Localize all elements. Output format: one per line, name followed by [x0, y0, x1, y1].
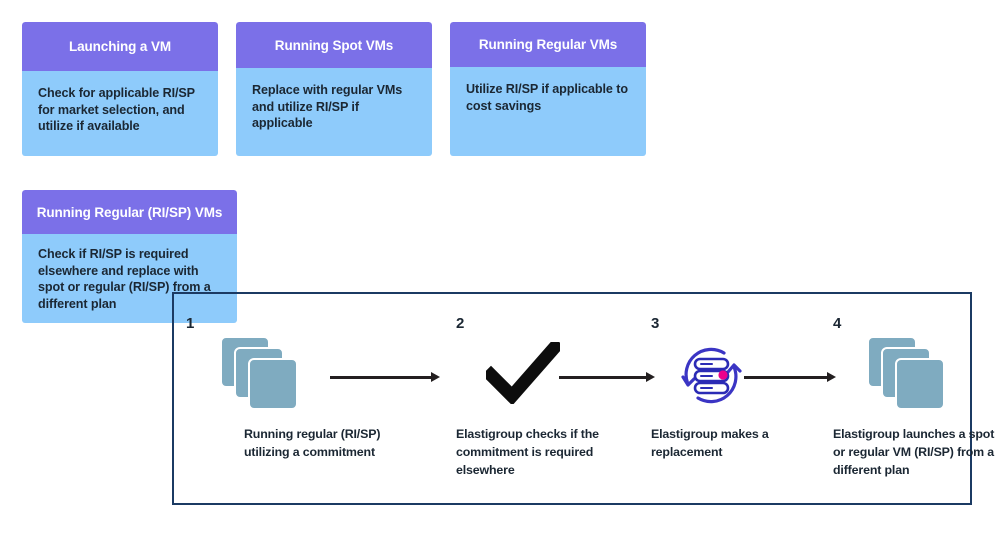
- info-card-body: Utilize RI/SP if applicable to cost savi…: [450, 67, 646, 156]
- flow-step-3: 3 Elastigroup makes a replacement: [651, 316, 827, 462]
- step-icon-area: [833, 334, 1000, 412]
- flow-arrow-3-to-4: [744, 371, 836, 383]
- info-card-body: Check for applicable RI/SP for market se…: [22, 71, 218, 156]
- flow-step-1: 1 Running regular (RI/SP) utilizing a co…: [186, 316, 362, 462]
- info-card-title: Running Regular (RI/SP) VMs: [22, 190, 237, 234]
- step-number: 2: [456, 316, 632, 334]
- step-number: 4: [833, 316, 1000, 334]
- flow-step-2: 2 Elastigroup checks if the commitment i…: [456, 316, 632, 480]
- info-card-launching-a-vm: Launching a VM Check for applicable RI/S…: [22, 22, 218, 156]
- info-card-title: Launching a VM: [22, 22, 218, 71]
- info-card-running-spot-vms: Running Spot VMs Replace with regular VM…: [236, 22, 432, 156]
- replacement-flow-panel: 1 Running regular (RI/SP) utilizing a co…: [172, 292, 972, 505]
- step-caption: Elastigroup makes a replacement: [651, 426, 801, 462]
- checkmark-icon: [486, 342, 560, 404]
- info-card-running-regular-vms: Running Regular VMs Utilize RI/SP if app…: [450, 22, 646, 156]
- server-replacement-icon: [675, 340, 747, 410]
- flow-step-4: 4 Elastigroup launches a spot or regular…: [833, 316, 1000, 480]
- stacked-vms-icon: [220, 336, 312, 412]
- info-card-title: Running Spot VMs: [236, 22, 432, 68]
- step-number: 1: [186, 316, 362, 334]
- info-card-body: Replace with regular VMs and utilize RI/…: [236, 68, 432, 156]
- stacked-vms-icon: [867, 336, 959, 412]
- info-card-title: Running Regular VMs: [450, 22, 646, 67]
- flow-arrow-2-to-3: [559, 371, 655, 383]
- step-caption: Elastigroup checks if the commitment is …: [456, 426, 614, 480]
- step-caption: Running regular (RI/SP) utilizing a comm…: [186, 426, 394, 462]
- step-caption: Elastigroup launches a spot or regular V…: [833, 426, 1000, 480]
- accent-dot-icon: [718, 370, 727, 379]
- step-number: 3: [651, 316, 827, 334]
- flow-arrow-1-to-2: [330, 371, 440, 383]
